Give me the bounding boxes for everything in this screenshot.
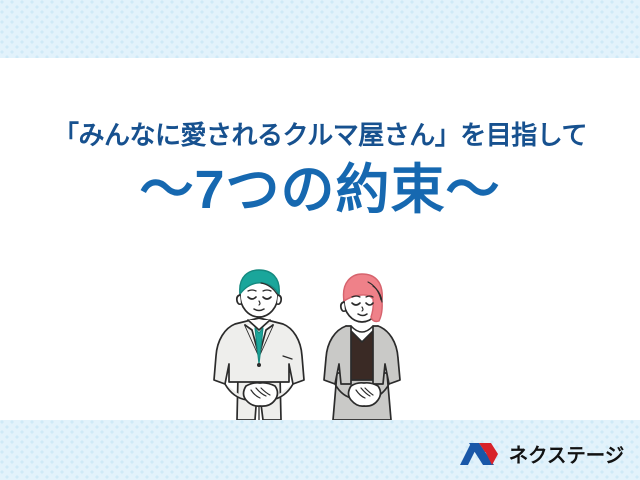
nextage-logo[interactable]: ネクステージ <box>460 439 626 468</box>
banner-stage: 「みんなに愛されるクルマ屋さん」を目指して 〜7つの約束〜 <box>0 0 640 480</box>
male-staff-figure <box>214 270 304 420</box>
two-bowing-staff-svg <box>205 268 435 420</box>
headline-block: 「みんなに愛されるクルマ屋さん」を目指して 〜7つの約束〜 <box>0 58 640 220</box>
nextage-n-mark-icon <box>460 441 498 467</box>
staff-illustration <box>0 268 640 420</box>
white-content-panel: 「みんなに愛されるクルマ屋さん」を目指して 〜7つの約束〜 <box>0 58 640 420</box>
nextage-logo-text: ネクステージ <box>509 439 624 468</box>
headline-line-2: 〜7つの約束〜 <box>0 160 640 220</box>
headline-line-1: 「みんなに愛されるクルマ屋さん」を目指して <box>0 121 640 150</box>
female-staff-figure <box>324 274 400 420</box>
